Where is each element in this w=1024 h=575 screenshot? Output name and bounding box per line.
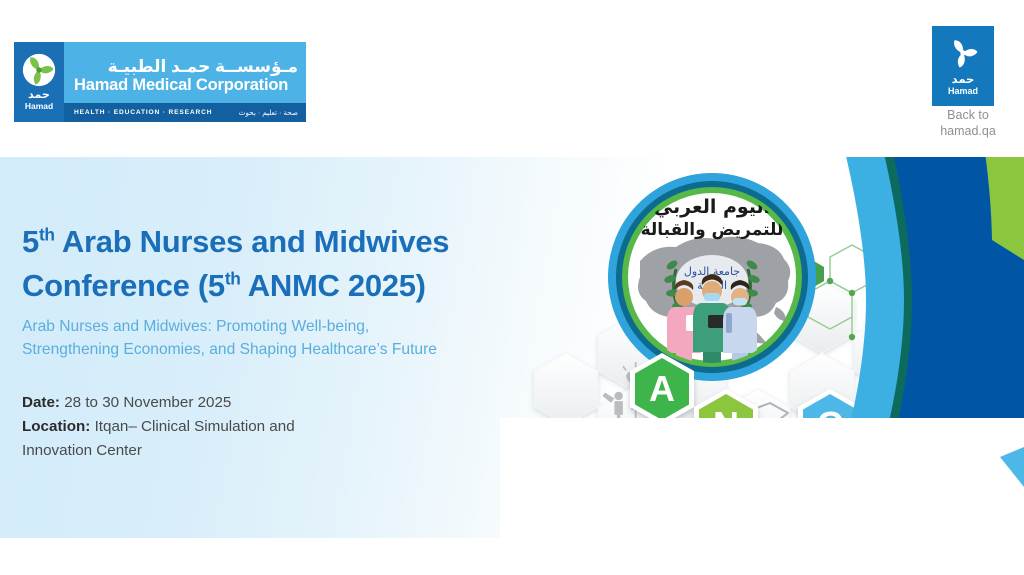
hamad-badge-english: Hamad <box>948 86 978 97</box>
leaf-circle-icon <box>22 53 56 87</box>
title-line-1: 5th Arab Nurses and Midwives <box>22 220 562 264</box>
date-label: Date: <box>22 394 60 411</box>
title-rest: Arab Nurses and Midwives <box>55 224 449 259</box>
back-link-line2: hamad.qa <box>918 124 1018 140</box>
subtitle-line-1: Arab Nurses and Midwives: Promoting Well… <box>22 316 552 339</box>
page-title: 5th Arab Nurses and Midwives Conference … <box>22 220 562 308</box>
hmc-tagline-bar: HEALTH · EDUCATION · RESEARCH صحة · تعلي… <box>64 103 306 122</box>
hmc-mark-arabic: حمد <box>28 90 50 101</box>
slide-canvas: جامعة الدول العربية <box>0 0 1024 575</box>
hmc-wordmark: مـؤسســة حمـد الطبيـة Hamad Medical Corp… <box>64 42 306 122</box>
event-details: Date: 28 to 30 November 2025 Location: I… <box>22 391 492 463</box>
hamad-leaf-mark: حمد Hamad <box>14 42 64 122</box>
hmc-logo[interactable]: حمد Hamad مـؤسســة حمـد الطبيـة Hamad Me… <box>14 42 306 122</box>
title-ordinal-suffix: th <box>39 225 55 245</box>
page-subtitle: Arab Nurses and Midwives: Promoting Well… <box>22 316 552 361</box>
event-date-row: Date: 28 to 30 November 2025 <box>22 391 492 415</box>
conference-graphic: جامعة الدول العربية <box>500 157 1024 575</box>
location-value: Itqan– Clinical Simulation and <box>90 418 294 435</box>
title-line2-a: Conference (5 <box>22 268 225 303</box>
hamad-leaf-icon <box>946 36 980 70</box>
hmc-mark-english: Hamad <box>25 101 53 111</box>
hamad-badge-arabic: حمد <box>952 74 975 86</box>
hmc-tagline-ar: صحة · تعليم · بحوث <box>239 108 298 117</box>
back-to-hamad-link[interactable]: Back to hamad.qa <box>918 108 1018 139</box>
event-location-row: Location: Itqan– Clinical Simulation and <box>22 415 492 439</box>
hmc-tagline-en: HEALTH · EDUCATION · RESEARCH <box>74 109 212 116</box>
title-line-2: Conference (5th ANMC 2025) <box>22 264 562 308</box>
location-label: Location: <box>22 418 90 435</box>
hamad-badge[interactable]: حمد Hamad <box>932 26 994 106</box>
title-ordinal: 5 <box>22 224 39 259</box>
date-value: 28 to 30 November 2025 <box>60 394 231 411</box>
hmc-arabic-name: مـؤسســة حمـد الطبيـة <box>74 57 298 76</box>
hmc-english-name: Hamad Medical Corporation <box>74 76 298 95</box>
accent-triangle <box>500 157 1024 575</box>
event-location-row-2: Innovation Center <box>22 439 492 463</box>
title-ordinal-suffix-2: th <box>225 269 241 289</box>
title-line2-b: ANMC 2025) <box>241 268 426 303</box>
subtitle-line-2: Strengthening Economies, and Shaping Hea… <box>22 339 552 362</box>
back-link-line1: Back to <box>918 108 1018 124</box>
